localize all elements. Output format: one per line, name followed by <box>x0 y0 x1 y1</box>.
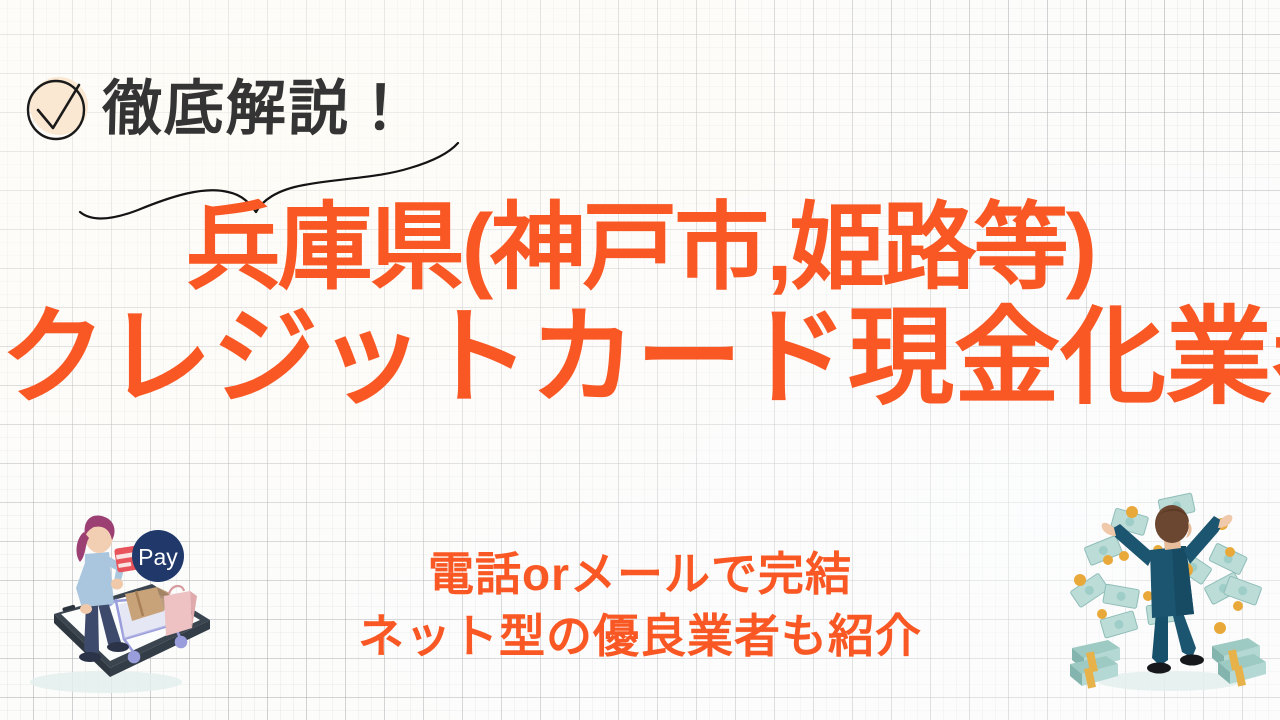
banner-canvas: 徹底解説！ 兵庫県(神戸市,姫路等) クレジットカード現金化業者 電話orメール… <box>0 0 1280 720</box>
check-circle-icon <box>22 72 96 146</box>
title-line-1: 兵庫県(神戸市,姫路等) <box>0 200 1280 298</box>
eyebrow-label: 徹底解説！ <box>101 79 413 139</box>
woman-shopping-cart-illustration: Pay <box>24 492 244 697</box>
pay-badge: Pay <box>132 530 184 582</box>
title-line-2: クレジットカード現金化業者 <box>0 304 1280 413</box>
pay-badge-label: Pay <box>138 544 178 570</box>
page-title: 兵庫県(神戸市,姫路等) クレジットカード現金化業者 <box>0 200 1280 413</box>
man-celebrating-money-illustration <box>1062 488 1277 698</box>
